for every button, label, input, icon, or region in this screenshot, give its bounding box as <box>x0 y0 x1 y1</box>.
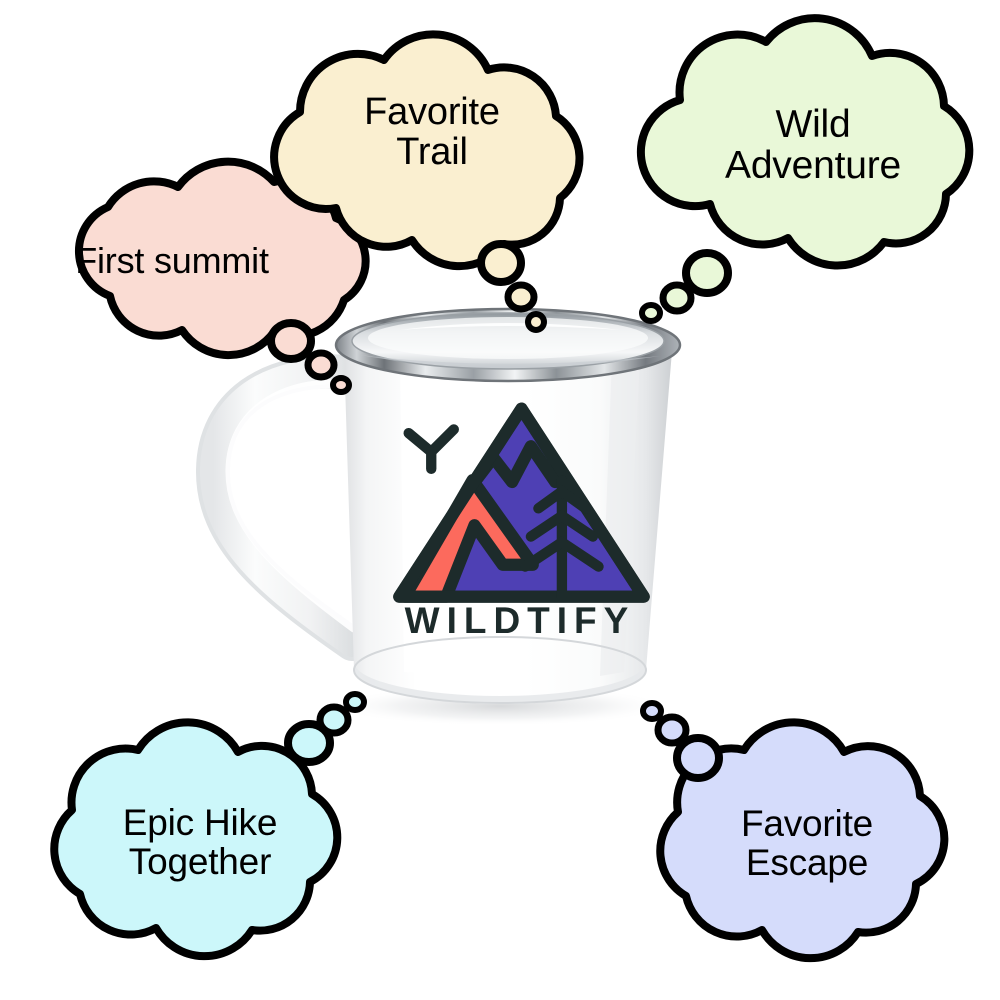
bubble-label-wild-adventure: Wild Adventure <box>663 104 963 187</box>
bubble-label-favorite-escape: Favorite Escape <box>672 804 942 882</box>
bubble-label-epic-hike-together: Epic Hike Together <box>65 803 335 881</box>
bubble-label-first-summit: First summit <box>22 242 322 280</box>
scene-canvas: First summit Favorite Trail Wild Adventu… <box>0 0 1000 1000</box>
mug-brand-text: WILDTIFY <box>375 600 665 642</box>
bubble-label-favorite-trail: Favorite Trail <box>307 92 557 173</box>
text-layer: First summit Favorite Trail Wild Adventu… <box>0 0 1000 1000</box>
